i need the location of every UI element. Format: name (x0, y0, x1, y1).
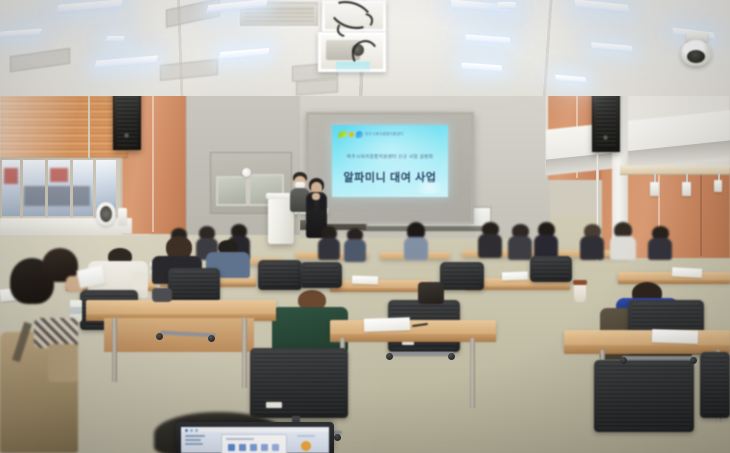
desk-row2-right (330, 280, 430, 290)
audience-a11 (610, 222, 636, 260)
chair-base-right (622, 356, 698, 360)
caster-icon (334, 434, 341, 441)
chair-mesh (533, 259, 569, 279)
handout-paper-2 (352, 276, 378, 285)
ceiling-tile-5 (296, 79, 338, 96)
slide-logo: 파주시육아종합지원센터 (338, 131, 404, 138)
projector-light-beam (336, 62, 370, 74)
wall-clock (242, 168, 251, 177)
laptop-sidebar-row-3 (185, 443, 203, 445)
slide-decoration (416, 180, 442, 194)
caster-icon (156, 333, 163, 340)
speaker-driver-left (124, 133, 129, 138)
slide-organization: 파주시육아종합지원센터 (365, 132, 404, 137)
caster-icon (386, 353, 393, 360)
person-body (610, 236, 636, 260)
chair-base-mid2 (388, 352, 454, 356)
laptop-grid-icon-4 (261, 444, 268, 451)
speaker-arm-right (319, 195, 326, 211)
open-laptop[interactable] (176, 422, 334, 453)
audience-a7 (478, 222, 502, 258)
laptop-nav-dot-3 (195, 429, 198, 432)
person-body (580, 236, 604, 260)
chair-row1-b[interactable] (440, 262, 484, 290)
handout-paper-4 (672, 267, 702, 278)
laptop-sidebar-row-2 (185, 439, 201, 441)
front-wall-window-left (216, 176, 248, 206)
chair-mesh (597, 363, 691, 429)
chair-front-right[interactable] (594, 360, 694, 432)
ceiling-light-14 (105, 36, 125, 42)
white-cylinder-object (118, 208, 127, 226)
person-body (478, 234, 502, 258)
speaker-hands (312, 193, 320, 200)
laptop-nav-dot-2 (190, 429, 193, 432)
laptop-grid-icon-2 (239, 444, 246, 451)
caster-icon (690, 357, 697, 364)
chair-row1-c[interactable] (530, 256, 572, 282)
chair-mesh (261, 263, 299, 287)
chair-row2-right[interactable] (258, 260, 302, 290)
speaker-driver-right (603, 135, 608, 140)
laptop-center-panel[interactable] (221, 434, 287, 453)
audience-a6 (404, 222, 428, 260)
chair-label-tag (266, 402, 282, 408)
chair-front-center[interactable] (250, 348, 348, 418)
person-arm (132, 272, 148, 290)
caster-icon (208, 335, 215, 342)
desk-leg-fc-2 (470, 338, 475, 408)
desk-leg-fl-2 (242, 318, 247, 388)
seminar-room-photo: 파주시육아종합지원센터 파주시육아종합지원센터 신규 사업 설명회 알파미니 대… (0, 0, 730, 453)
chair-mesh (703, 355, 727, 415)
chair-row2-mid[interactable] (168, 268, 220, 302)
logo-leaf-icon (338, 131, 347, 138)
chair-mesh (303, 265, 339, 285)
person-body (648, 238, 672, 260)
audience-a8 (508, 224, 532, 260)
presentation-slide: 파주시육아종합지원센터 파주시육아종합지원센터 신규 사업 설명회 알파미니 대… (332, 125, 448, 197)
person-body (344, 239, 366, 262)
coffee-lid (573, 280, 587, 285)
audience-a4 (318, 226, 340, 260)
bag-under-desk-1 (418, 282, 444, 304)
person-body (404, 237, 428, 260)
laptop-grid-icon-3 (250, 444, 257, 451)
laptop-grid-icon-5 (272, 444, 279, 451)
laptop-screen[interactable] (181, 427, 329, 453)
outside-vehicle (24, 186, 90, 206)
ceiling-light-12 (497, 2, 516, 9)
hanging-hook-2 (682, 182, 691, 196)
logo-dot-icon (349, 132, 354, 137)
caster-icon (620, 357, 627, 364)
camera-lens-icon (687, 50, 705, 63)
audience-a5 (344, 228, 366, 262)
white-ring-object-2 (100, 206, 112, 222)
desk-front-center (330, 320, 496, 338)
window-mullion-3 (70, 158, 73, 220)
bag-under-desk-2 (152, 288, 172, 302)
chair-row1-a[interactable] (300, 262, 342, 288)
outside-red-object-2 (50, 168, 68, 182)
hanging-hook-3 (714, 180, 722, 192)
handout-paper-3 (502, 272, 528, 281)
laptop-sidebar-row-1 (185, 435, 205, 437)
desk-leg-fl-1 (112, 318, 117, 382)
audience-a10 (580, 224, 604, 260)
audience-a9 (534, 222, 558, 260)
lectern-leg-1 (298, 213, 300, 235)
laptop-app-topbar (181, 427, 329, 432)
person-arm (48, 344, 78, 382)
desk-front-left (86, 300, 276, 318)
laptop-panel-title (226, 438, 254, 440)
wall-rail (620, 166, 730, 175)
handout-paper-front-2 (652, 329, 698, 344)
person-body (318, 238, 340, 260)
hanging-hook-1 (650, 182, 659, 196)
coffee-cup (574, 282, 586, 302)
audience-a12 (648, 226, 672, 260)
wall-speaker-left (113, 88, 141, 150)
laptop-right-row (297, 435, 315, 437)
chair-mesh (171, 271, 217, 299)
handout-paper-front-1 (364, 317, 410, 332)
window-mullion-1 (20, 158, 23, 220)
caster-icon (448, 353, 455, 360)
slide-subtitle: 파주시육아종합지원센터 신규 사업 설명회 (332, 154, 448, 160)
chair-mesh (443, 265, 481, 287)
laptop-grid-icon-1 (228, 444, 235, 451)
logo-swirl-icon (356, 131, 363, 138)
desk-front-right (564, 330, 730, 350)
window-mullion-2 (45, 158, 48, 220)
chair-front-far-right[interactable] (700, 352, 730, 418)
laptop-orange-marker (301, 441, 311, 451)
person-body (508, 236, 532, 260)
partition-seam-right3 (700, 170, 702, 256)
laptop-nav-dot-1 (185, 429, 188, 432)
outside-red-object (4, 168, 18, 184)
foreground-person-left-upper (34, 248, 92, 318)
wall-speaker-right (592, 88, 620, 152)
head-hair (166, 236, 192, 258)
